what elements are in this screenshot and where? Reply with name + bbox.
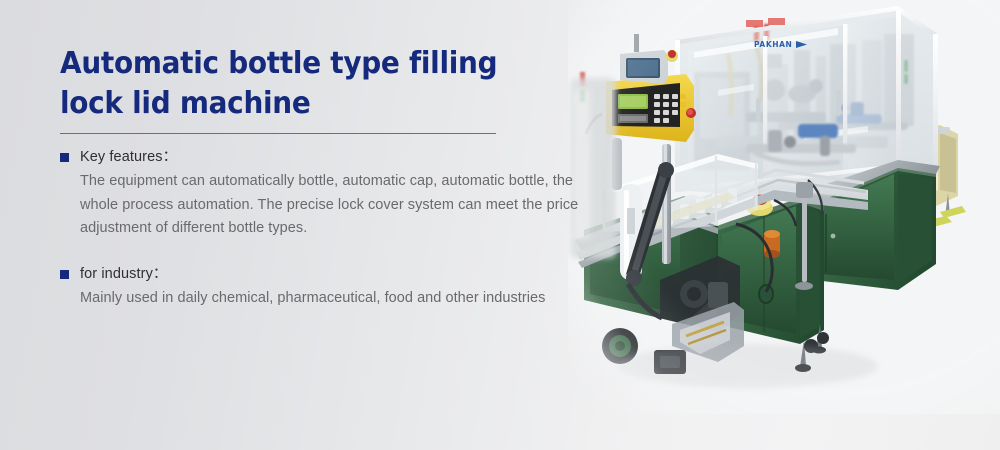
title-block: Automatic bottle type filling lock lid m… — [60, 44, 600, 124]
feature-group-key-features: Key features： The equipment can automati… — [60, 147, 600, 240]
feature-body: The equipment can automatically bottle, … — [80, 170, 600, 240]
feature-label: for industry： — [80, 264, 168, 285]
feature-heading: Key features： — [60, 147, 600, 168]
machine-photo: PAKHAN — [568, 0, 1000, 414]
square-bullet-icon — [60, 270, 69, 279]
feature-label: Key features： — [80, 147, 177, 168]
title-divider — [60, 133, 496, 134]
square-bullet-icon — [60, 153, 69, 162]
svg-text:PAKHAN: PAKHAN — [754, 40, 792, 49]
feature-body: Mainly used in daily chemical, pharmaceu… — [80, 287, 600, 310]
features-list: Key features： The equipment can automati… — [60, 147, 600, 311]
page-title: Automatic bottle type filling lock lid m… — [60, 44, 562, 124]
feature-group-for-industry: for industry： Mainly used in daily chemi… — [60, 264, 600, 311]
product-banner: PAKHAN — [0, 0, 1000, 450]
feature-heading: for industry： — [60, 264, 600, 285]
machine-photo-illustration: PAKHAN — [568, 0, 1000, 414]
